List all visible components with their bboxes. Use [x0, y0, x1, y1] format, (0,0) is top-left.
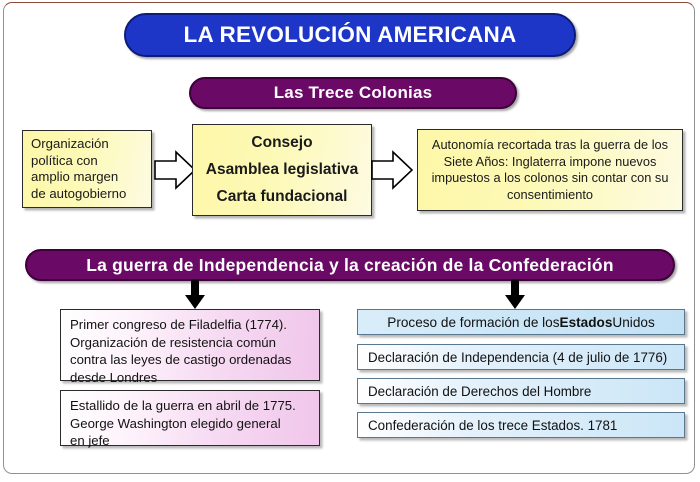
box-autonomia-line-4: consentimiento	[428, 187, 672, 204]
box-organizacion-line-1: Organización	[31, 136, 143, 153]
page-title: LA REVOLUCIÓN AMERICANA	[124, 13, 576, 57]
box-consejo-line-3: Carta fundacional	[199, 188, 365, 206]
arrow-down-icon-left	[184, 280, 206, 310]
box-consejo-line-2: Asamblea legislativa	[199, 161, 365, 179]
box-organizacion-line-4: de autogobierno	[31, 186, 143, 203]
box-estallido-line-2: George Washington elegido general	[70, 415, 310, 433]
box-organizacion-politica: Organización política con amplio margen …	[22, 130, 152, 208]
box-organizacion-line-3: amplio margen	[31, 169, 143, 186]
box-estallido-guerra: Estallido de la guerra en abril de 1775.…	[60, 390, 320, 446]
box-proceso-suffix: Unidos	[612, 315, 654, 330]
box-autonomia-line-1: Autonomía recortada tras la guerra de lo…	[428, 137, 672, 154]
box-autonomia-recortada: Autonomía recortada tras la guerra de lo…	[417, 129, 683, 211]
box-declaracion-independencia: Declaración de Independencia (4 de julio…	[357, 344, 685, 370]
box-autonomia-line-3: impuestos a los colonos sin contar con s…	[428, 170, 672, 187]
box-consejo-asamblea-carta: Consejo Asamblea legislativa Carta funda…	[192, 124, 372, 216]
box-filadelfia-line-2: Organización de resistencia común	[70, 334, 310, 352]
slide-canvas: LA REVOLUCIÓN AMERICANA Las Trece Coloni…	[0, 0, 700, 482]
box-organizacion-line-2: política con	[31, 153, 143, 170]
box-estallido-line-1: Estallido de la guerra en abril de 1775.	[70, 397, 310, 415]
box-confederacion-trece-estados: Confederación de los trece Estados. 1781	[357, 412, 685, 438]
box-proceso-bold: Estados	[560, 315, 613, 330]
box-autonomia-line-2: Siete Años: Inglaterra impone nuevos	[428, 154, 672, 171]
box-primer-congreso-filadelfia: Primer congreso de Filadelfia (1774). Or…	[60, 309, 320, 381]
box-filadelfia-line-3: contra las leyes de castigo ordenadas	[70, 351, 310, 369]
subtitle-las-trece-colonias: Las Trece Colonias	[189, 77, 517, 109]
box-proceso-prefix: Proceso de formación de los	[387, 315, 559, 330]
banner-guerra-independencia: La guerra de Independencia y la creación…	[25, 249, 675, 281]
box-consejo-line-1: Consejo	[199, 134, 365, 152]
arrow-right-icon-1	[154, 150, 196, 190]
arrow-right-icon-2	[371, 150, 413, 190]
arrow-down-icon-right	[504, 280, 526, 310]
box-proceso-formacion-estados-unidos: Proceso de formación de los Estados Unid…	[357, 309, 685, 335]
box-declaracion-derechos-hombre: Declaración de Derechos del Hombre	[357, 378, 685, 404]
box-filadelfia-line-4: desde Londres	[70, 369, 310, 387]
box-estallido-line-3: en jefe	[70, 432, 310, 450]
box-filadelfia-line-1: Primer congreso de Filadelfia (1774).	[70, 316, 310, 334]
